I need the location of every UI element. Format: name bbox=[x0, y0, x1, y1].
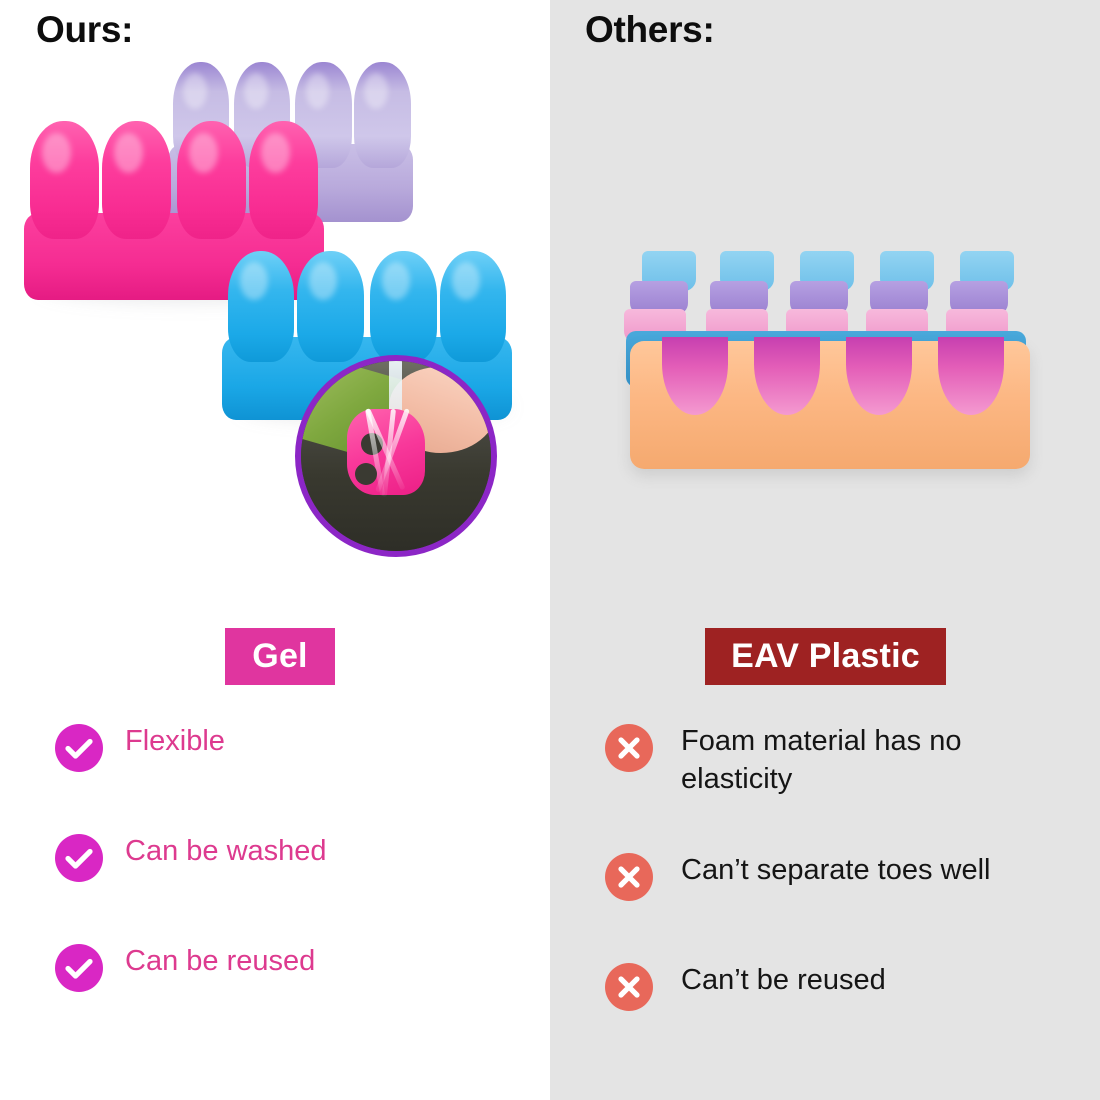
others-feature-list: Foam material has no elasticity Can’t se… bbox=[605, 722, 1035, 1071]
gel-material-badge: Gel bbox=[225, 628, 335, 685]
feature-label: Can be washed bbox=[103, 832, 327, 870]
feature-row: Can be reused bbox=[55, 942, 485, 992]
foam-notch bbox=[938, 337, 1004, 415]
separator-prong bbox=[177, 121, 246, 239]
foam-notch bbox=[846, 337, 912, 415]
washing-demo-inset bbox=[295, 355, 497, 557]
others-heading: Others: bbox=[585, 9, 714, 51]
cross-icon bbox=[605, 853, 653, 901]
feature-row: Flexible bbox=[55, 722, 485, 772]
feature-row: Foam material has no elasticity bbox=[605, 722, 1035, 799]
separator-prong bbox=[228, 251, 295, 363]
eav-plastic-material-badge: EAV Plastic bbox=[705, 628, 946, 685]
check-icon bbox=[55, 724, 103, 772]
separator-prong bbox=[249, 121, 318, 239]
feature-row: Can’t be reused bbox=[605, 961, 1035, 1011]
foam-notch bbox=[754, 337, 820, 415]
separator-prong bbox=[440, 251, 507, 363]
feature-label: Flexible bbox=[103, 722, 225, 760]
comparison-infographic: Ours: Others: bbox=[0, 0, 1100, 1100]
ours-feature-list: Flexible Can be washed Can be reused bbox=[55, 722, 485, 1052]
separator-prong bbox=[297, 251, 364, 363]
feature-label: Can’t separate toes well bbox=[653, 851, 991, 889]
separator-prong bbox=[30, 121, 99, 239]
foam-front-orange bbox=[630, 341, 1030, 469]
feature-row: Can be washed bbox=[55, 832, 485, 882]
check-icon bbox=[55, 944, 103, 992]
cross-icon bbox=[605, 963, 653, 1011]
feature-label: Can’t be reused bbox=[653, 961, 886, 999]
pink-gel-separator-in-hand bbox=[347, 409, 425, 495]
check-icon bbox=[55, 834, 103, 882]
feature-row: Can’t separate toes well bbox=[605, 851, 1035, 901]
separator-prong bbox=[102, 121, 171, 239]
separator-prong bbox=[370, 251, 437, 363]
separator-prong bbox=[354, 62, 410, 167]
feature-label: Foam material has no elasticity bbox=[653, 722, 1035, 799]
feature-label: Can be reused bbox=[103, 942, 315, 980]
foam-notch bbox=[662, 337, 728, 415]
cross-icon bbox=[605, 724, 653, 772]
eav-foam-separator-photo bbox=[612, 245, 1052, 485]
